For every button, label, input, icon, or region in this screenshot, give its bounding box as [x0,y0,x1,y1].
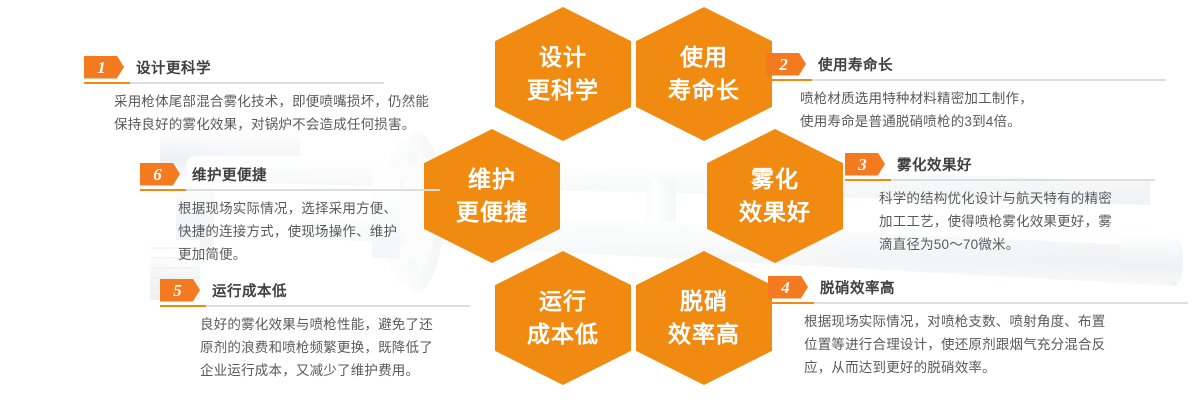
feature-6-divider [140,189,440,191]
feature-1-body: 采用枪体尾部混合雾化技术，即便喷嘴损坏，仍然能 保持良好的雾化效果，对锅炉不会造… [114,90,384,136]
hexagon-cost-line2: 成本低 [527,318,599,351]
feature-block-6: 6 维护更便捷 根据现场实际情况，选择采用方便、 快捷的连接方式，使现场操作、维… [140,162,440,267]
feature-4-line-1: 根据现场实际情况，对喷枪支数、喷射角度、布置 [804,310,1188,333]
feature-1-title: 设计更科学 [136,57,211,78]
feature-6-body: 根据现场实际情况，选择采用方便、 快捷的连接方式，使现场操作、维护 更加简便。 [178,197,440,267]
feature-6-number: 6 [153,166,167,183]
number-badge-3-icon: 3 [845,153,885,176]
feature-5-divider [160,305,470,307]
number-badge-1-icon: 1 [84,56,124,79]
feature-4-number: 4 [781,279,795,296]
feature-2-divider [766,79,1166,81]
feature-block-5: 5 运行成本低 良好的雾化效果与喷枪性能，避免了还 原剂的浪费和喷枪频繁更换，既… [160,278,470,383]
feature-5-line-2: 原剂的浪费和喷枪频繁更换，既降低了 [200,336,470,359]
hexagon-lifespan-line2: 寿命长 [668,74,740,107]
feature-block-2: 2 使用寿命长 喷枪材质选用特种材料精密加工制作， 使用寿命是普通脱硝喷枪的3到… [766,52,1166,133]
feature-2-body: 喷枪材质选用特种材料精密加工制作， 使用寿命是普通脱硝喷枪的3到4倍。 [800,87,1166,133]
feature-5-line-1: 良好的雾化效果与喷枪性能，避免了还 [200,313,470,336]
feature-3-number: 3 [858,156,872,173]
hexagon-denitration-line2: 效率高 [668,318,740,351]
hexagon-lifespan-line1: 使用 [680,41,728,74]
feature-2-line-2: 使用寿命是普通脱硝喷枪的3到4倍。 [800,110,1166,133]
feature-5-line-3: 企业运行成本，又减少了维护费用。 [200,359,470,382]
feature-5-title: 运行成本低 [212,280,287,301]
feature-2-title: 使用寿命长 [818,54,893,75]
feature-5-header: 5 运行成本低 [160,278,470,302]
hexagon-cost-line1: 运行 [539,285,587,318]
feature-5-body: 良好的雾化效果与喷枪性能，避免了还 原剂的浪费和喷枪频繁更换，既降低了 企业运行… [200,313,470,383]
feature-5-number: 5 [173,282,187,299]
feature-6-line-1: 根据现场实际情况，选择采用方便、 [178,197,440,220]
hexagon-maintenance[interactable]: 维护 更便捷 [424,129,560,263]
feature-block-4: 4 脱硝效率高 根据现场实际情况，对喷枪支数、喷射角度、布置 位置等进行合理设计… [768,275,1188,380]
feature-6-line-3: 更加简便。 [178,243,440,266]
feature-1-line-1: 采用枪体尾部混合雾化技术，即便喷嘴损坏，仍然能 [114,90,384,113]
feature-6-line-2: 快捷的连接方式，使现场操作、维护 [178,220,440,243]
hexagon-design-line2: 更科学 [527,74,599,107]
feature-1-header: 1 设计更科学 [84,55,384,79]
feature-1-number: 1 [97,59,111,76]
feature-1-divider [84,82,384,84]
feature-2-header: 2 使用寿命长 [766,52,1166,76]
feature-3-body: 科学的结构优化设计与航天特有的精密 加工工艺，使得喷枪雾化效果更好，雾 滴直径为… [879,187,1155,257]
hexagon-maintenance-line2: 更便捷 [456,196,528,229]
hexagon-lifespan[interactable]: 使用 寿命长 [636,7,772,141]
hexagon-denitration-line1: 脱硝 [680,285,728,318]
feature-6-header: 6 维护更便捷 [140,162,440,186]
hexagon-denitration[interactable]: 脱硝 效率高 [636,251,772,385]
feature-2-number: 2 [779,56,793,73]
number-badge-5-icon: 5 [160,279,200,302]
number-badge-4-icon: 4 [768,276,808,299]
feature-4-title: 脱硝效率高 [820,277,895,298]
number-badge-6-icon: 6 [140,163,180,186]
feature-4-header: 4 脱硝效率高 [768,275,1188,299]
infographic-root: 设计 更科学 使用 寿命长 维护 更便捷 雾化 效果好 运行 成本低 脱硝 效率… [0,0,1197,413]
feature-2-line-1: 喷枪材质选用特种材料精密加工制作， [800,87,1166,110]
feature-4-divider [768,302,1188,304]
feature-3-line-1: 科学的结构优化设计与航天特有的精密 [879,187,1155,210]
feature-3-header: 3 雾化效果好 [845,152,1155,176]
feature-4-line-2: 位置等进行合理设计，使还原剂跟烟气充分混合反 [804,333,1188,356]
feature-4-line-3: 应，从而达到更好的脱硝效率。 [804,356,1188,379]
hexagon-cost[interactable]: 运行 成本低 [495,251,631,385]
feature-3-line-2: 加工工艺，使得喷枪雾化效果更好，雾 [879,210,1155,233]
feature-4-body: 根据现场实际情况，对喷枪支数、喷射角度、布置 位置等进行合理设计，使还原剂跟烟气… [804,310,1188,380]
hexagon-design[interactable]: 设计 更科学 [495,7,631,141]
hexagon-atomizing-line1: 雾化 [751,163,799,196]
feature-6-title: 维护更便捷 [192,164,267,185]
hexagon-atomizing[interactable]: 雾化 效果好 [707,129,843,263]
feature-3-title: 雾化效果好 [897,154,972,175]
feature-block-3: 3 雾化效果好 科学的结构优化设计与航天特有的精密 加工工艺，使得喷枪雾化效果更… [845,152,1155,257]
feature-3-divider [845,179,1155,181]
feature-3-line-3: 滴直径为50～70微米。 [879,233,1155,256]
feature-1-line-2: 保持良好的雾化效果，对锅炉不会造成任何损害。 [114,113,384,136]
hexagon-design-line1: 设计 [539,41,587,74]
feature-block-1: 1 设计更科学 采用枪体尾部混合雾化技术，即便喷嘴损坏，仍然能 保持良好的雾化效… [84,55,384,136]
number-badge-2-icon: 2 [766,53,806,76]
hexagon-atomizing-line2: 效果好 [739,196,811,229]
hexagon-maintenance-line1: 维护 [468,163,516,196]
